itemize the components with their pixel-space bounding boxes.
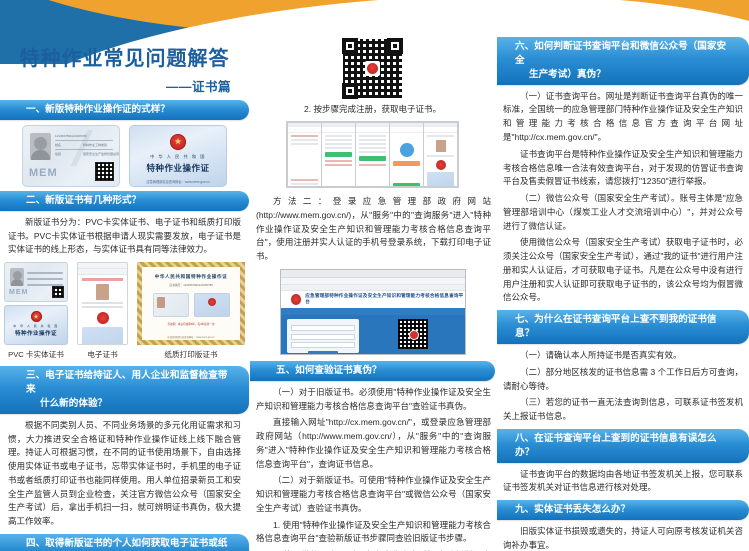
phone-nav-bar (78, 269, 127, 275)
mini-rule-2 (27, 278, 63, 280)
section-9-paragraph-1: 旧版实体证书损毁或遗失的，持证人可向原考核发证机关咨询补办事宜。 (503, 525, 743, 551)
screenshot-row (291, 139, 318, 141)
section-heading-3-line1: 三、电子证书给持证人、用人企业和监督检查带来 (26, 369, 233, 397)
wechat-official-account-qr-code (342, 38, 403, 99)
qr-caption: 2. 按步骤完成注册，获取电子证书。 (250, 103, 495, 115)
section-6-paragraph-3: （二）微信公众号（国家安全生产考试）。账号主体是"应急管理部培训中心（煤炭工业人… (503, 192, 743, 233)
card-back-line1: 中 华 人 民 共 和 国 (5, 324, 67, 328)
figure-captions: PVC 卡实体证书 电子证书 纸质打印版证书 (0, 349, 249, 360)
card-back-line3: 应急管理部信息查询网址：www.mem.gov.cn (130, 179, 226, 184)
section-heading-8: 八、在证书查询平台上查到的证书信息有误怎么办？ (497, 429, 749, 463)
section-5-paragraph-1: （一）对于旧版证书。必须使用"特种作业操作证及安全生产知识和管理能力考核合格信息… (256, 386, 491, 414)
section-7-paragraph-1: （一）请确认本人所持证书是否真实有效。 (503, 349, 743, 363)
paper-cert-red-note: 有效期：本证有效期6年，每3年复审一次 (142, 322, 240, 326)
caption-pvc: PVC 卡实体证书 (4, 349, 68, 360)
paper-cert-footer: 应急管理部信息查询网址：www.mem.gov.cn (142, 335, 240, 339)
card-brand-watermark: MEM (9, 289, 28, 296)
screenshot-header (322, 127, 355, 133)
login-qr-code (398, 319, 428, 349)
query-platform-browser-screenshot: 应急管理部特种作业操作证及安全生产知识和管理能力考核合格信息查询平台 (280, 269, 466, 355)
phone-alert-line (82, 278, 123, 281)
title-block: 特种作业常见问题解答 ——证书篇 (0, 48, 249, 95)
paper-cert-back-card (194, 293, 230, 317)
section-5-paragraph-4: 1. 使用"特种作业操作证及安全生产知识和管理能力考核合格信息查询平台"查验新版… (256, 519, 491, 547)
national-emblem-icon (97, 312, 109, 324)
login-form[interactable] (287, 319, 359, 353)
section-2-paragraph: 新版证书分为：PVC卡实体证书、电子证书和纸质打印版证书。PVC卡实体证书根据申… (8, 216, 241, 257)
paper-cert-inner-cards (142, 293, 240, 317)
method-2-paragraph: 方法二：登录应急管理部政府网站(http://www.mem.gov.cn/)，… (256, 195, 491, 264)
screenshot-row (325, 139, 352, 141)
paper-cert-title: 中华人民共和国特种作业操作证 (142, 274, 240, 280)
section-heading-2: 二、新版证书有几种形式？ (0, 191, 249, 211)
section-7-paragraph-2: （二）部分地区核发的证书信息需 3 个工作日后方可查询，请耐心等待。 (503, 366, 743, 394)
national-emblem-icon (436, 160, 446, 170)
screenshot-row (359, 147, 386, 149)
card-back-line2: 特种作业操作证 (5, 329, 67, 337)
qr-finder-top-left (342, 38, 358, 54)
screenshot-row (325, 143, 352, 145)
portrait-placeholder (30, 133, 51, 160)
screenshot-gap (288, 147, 321, 177)
screenshot-green-button (359, 156, 386, 161)
screenshot-header (356, 127, 389, 133)
pvc-card-back-image: 中 华 人 民 共 和 国 特种作业操作证 应急管理部信息查询网址：www.me… (129, 125, 227, 187)
pvc-mini-front: MEM (4, 262, 68, 302)
screenshot-orange-banner (393, 161, 420, 166)
section-6-paragraph-2: 证书查询平台是特种作业操作证及安全生产知识和管理能力考核合格信息唯一合法有效查询… (503, 148, 743, 189)
col3-content: 六、如何判断证书查询平台和微信公众号（国家安全 生产考试）真伪？ （一）证书查询… (497, 37, 749, 551)
phone-blue-card (82, 327, 123, 346)
portrait-placeholder (10, 268, 24, 286)
card-brand-watermark: MEM (29, 167, 58, 179)
section-6-paragraph-4: 使用微信公众号（国家安全生产考试）获取电子证书时，必须关注公众号（国家安全生产考… (503, 236, 743, 305)
paper-cert-subtitle: 证书编号：1234567890123456789 (142, 283, 240, 287)
qr-finder-bottom-left (342, 83, 358, 99)
section-heading-3-line2: 什么新的体验？ (26, 397, 233, 411)
screenshot-header (424, 127, 457, 133)
captcha-field[interactable] (291, 342, 355, 348)
card-qr-icon (52, 286, 64, 298)
screenshot-row (359, 143, 386, 145)
card-back-line2: 特种作业操作证 (130, 162, 226, 174)
card-back-line1: 中 华 人 民 共 和 国 (130, 154, 226, 160)
screenshot-row (359, 135, 386, 137)
figure-row-three-forms: MEM 中 华 人 民 共 和 国 特种作业操作证 (0, 262, 249, 345)
section-heading-9: 九、实体证书丢失怎么办？ (497, 500, 749, 520)
password-field[interactable] (291, 334, 355, 340)
screenshot-row (359, 151, 386, 153)
page-title: 特种作业常见问题解答 (0, 48, 249, 70)
card-sex-value: 国家安全生产监督管理总局 (83, 152, 119, 156)
card-qr-icon (95, 162, 114, 181)
screenshot-green-button (393, 183, 420, 186)
section-5-paragraph-2: 直接输入网址"http://cx.mem.gov.cn/"，或登录应急管理部政府… (256, 416, 491, 471)
registration-steps-screenshots (286, 121, 459, 188)
screenshot-row (291, 183, 318, 185)
mini-rule-1 (27, 272, 63, 274)
phone-text-line (82, 302, 123, 304)
screenshot-blue-card (427, 172, 454, 186)
portrait-placeholder (157, 297, 165, 308)
screenshot-avatar-icon (400, 143, 414, 157)
site-title: 应急管理部特种作业操作证及安全生产知识和管理能力考核合格信息查询平台 (305, 293, 464, 305)
step-screenshot-2 (322, 123, 355, 186)
section-8-paragraph-1: 证书查询平台的数据均由各地证书签发机关上报，您可联系证书签发机关对证书信息进行核… (503, 468, 743, 496)
step-screenshot-3 (356, 123, 389, 186)
site-login-area (281, 315, 465, 355)
screenshot-green-button (325, 152, 352, 157)
screenshot-gap (390, 168, 423, 180)
section-7-paragraph-3: （三）若您的证书一直无法查询到信息，可联系证书签发机关上报证书信息。 (503, 396, 743, 424)
browser-tab-bar (281, 270, 465, 278)
login-qr-area (367, 319, 459, 353)
section-heading-6-line2: 生产考试）真伪？ (515, 68, 733, 82)
section-heading-6: 六、如何判断证书查询平台和微信公众号（国家安全 生产考试）真伪？ (497, 37, 749, 85)
page-subtitle: ——证书篇 (0, 76, 231, 95)
screenshot-row (325, 164, 352, 166)
national-emblem-icon (170, 134, 186, 150)
section-heading-5: 五、如何查验证书真伪？ (250, 361, 495, 381)
browser-address-bar[interactable] (281, 278, 465, 285)
screenshot-row (325, 160, 352, 162)
national-emblem-icon (208, 298, 216, 306)
pvc-form-images: MEM 中 华 人 民 共 和 国 特种作业操作证 (4, 262, 68, 345)
section-heading-1: 一、新版特种作业操作证的式样？ (0, 100, 249, 120)
paper-certificate-image: 中华人民共和国特种作业操作证 证书编号：1234567890123456789 … (137, 262, 245, 345)
section-6-paragraph-1: （一）证书查询平台。网址是判断证书查询平台真伪的唯一标准，全国统一的应急管理部门… (503, 90, 743, 145)
screenshot-header (390, 127, 423, 133)
figure-row-cards: 1234567890123456789 姓名 特种作业工种类别 性别 国家安全生… (0, 125, 249, 187)
card-name-value: 特种作业工种类别 (83, 143, 107, 147)
electronic-certificate-phone-image (77, 262, 128, 345)
card-sex-label: 性别 (55, 152, 61, 156)
step-screenshot-4 (390, 123, 423, 186)
section-heading-4: 四、取得新版证书的个人如何获取电子证书或纸质证书？ (0, 534, 249, 551)
paper-cert-front-card (153, 293, 189, 317)
poster-page: 特种作业常见问题解答 ——证书篇 一、新版特种作业操作证的式样？ 1234567… (0, 0, 749, 551)
step-screenshot-5 (424, 123, 457, 186)
screenshot-row (359, 164, 386, 166)
screenshot-row (291, 179, 318, 181)
section-heading-6-line1: 六、如何判断证书查询平台和微信公众号（国家安全 (515, 40, 733, 68)
username-field[interactable] (291, 325, 355, 331)
section-heading-3: 三、电子证书给持证人、用人企业和监督检查带来 什么新的体验？ (0, 366, 249, 414)
card-name-label: 姓名 (55, 143, 61, 147)
screenshot-row (427, 155, 454, 157)
col2-content: 2. 按步骤完成注册，获取电子证书。 (250, 28, 495, 551)
section-5-paragraph-3: （二）对于新版证书。可使用"特种作业操作证及安全生产知识和管理能力考核合格信息查… (256, 474, 491, 515)
pvc-card-front-image: 1234567890123456789 姓名 特种作业工种类别 性别 国家安全生… (22, 125, 120, 187)
screenshot-row (325, 135, 352, 137)
step-screenshot-1 (288, 123, 321, 186)
login-submit-button[interactable] (308, 351, 338, 355)
pvc-mini-back: 中 华 人 民 共 和 国 特种作业操作证 (4, 305, 68, 345)
screenshot-row (291, 135, 318, 137)
phone-text-line (82, 306, 123, 308)
screenshot-header (288, 127, 321, 133)
phone-portrait (96, 284, 109, 300)
screenshot-row (427, 135, 454, 137)
qr-finder-top-right (387, 38, 403, 54)
caption-electronic: 电子证书 (77, 349, 128, 360)
card-id-text: 1234567890123456789 (55, 134, 87, 138)
site-navbar (281, 308, 465, 315)
screenshot-row (359, 139, 386, 141)
screenshot-row (291, 143, 318, 145)
site-header: 应急管理部特种作业操作证及安全生产知识和管理能力考核合格信息查询平台 (281, 291, 465, 308)
caption-paper: 纸质打印版证书 (137, 349, 245, 360)
national-emblem-icon (291, 294, 302, 305)
section-heading-7: 七、为什么在证书查询平台上查不到我的证书信息？ (497, 310, 749, 344)
section-3-paragraph: 根据不同类别人员、不同业务场景的多元化用证需求和习惯，大力推进安全合格证和特种作… (8, 419, 241, 529)
screenshot-row (325, 147, 352, 149)
col1-content: 一、新版特种作业操作证的式样？ 1234567890123456789 姓名 特… (0, 100, 249, 551)
screenshot-portrait (436, 140, 446, 152)
qr-center-emblem-icon (365, 61, 380, 76)
national-emblem-icon (31, 311, 42, 322)
